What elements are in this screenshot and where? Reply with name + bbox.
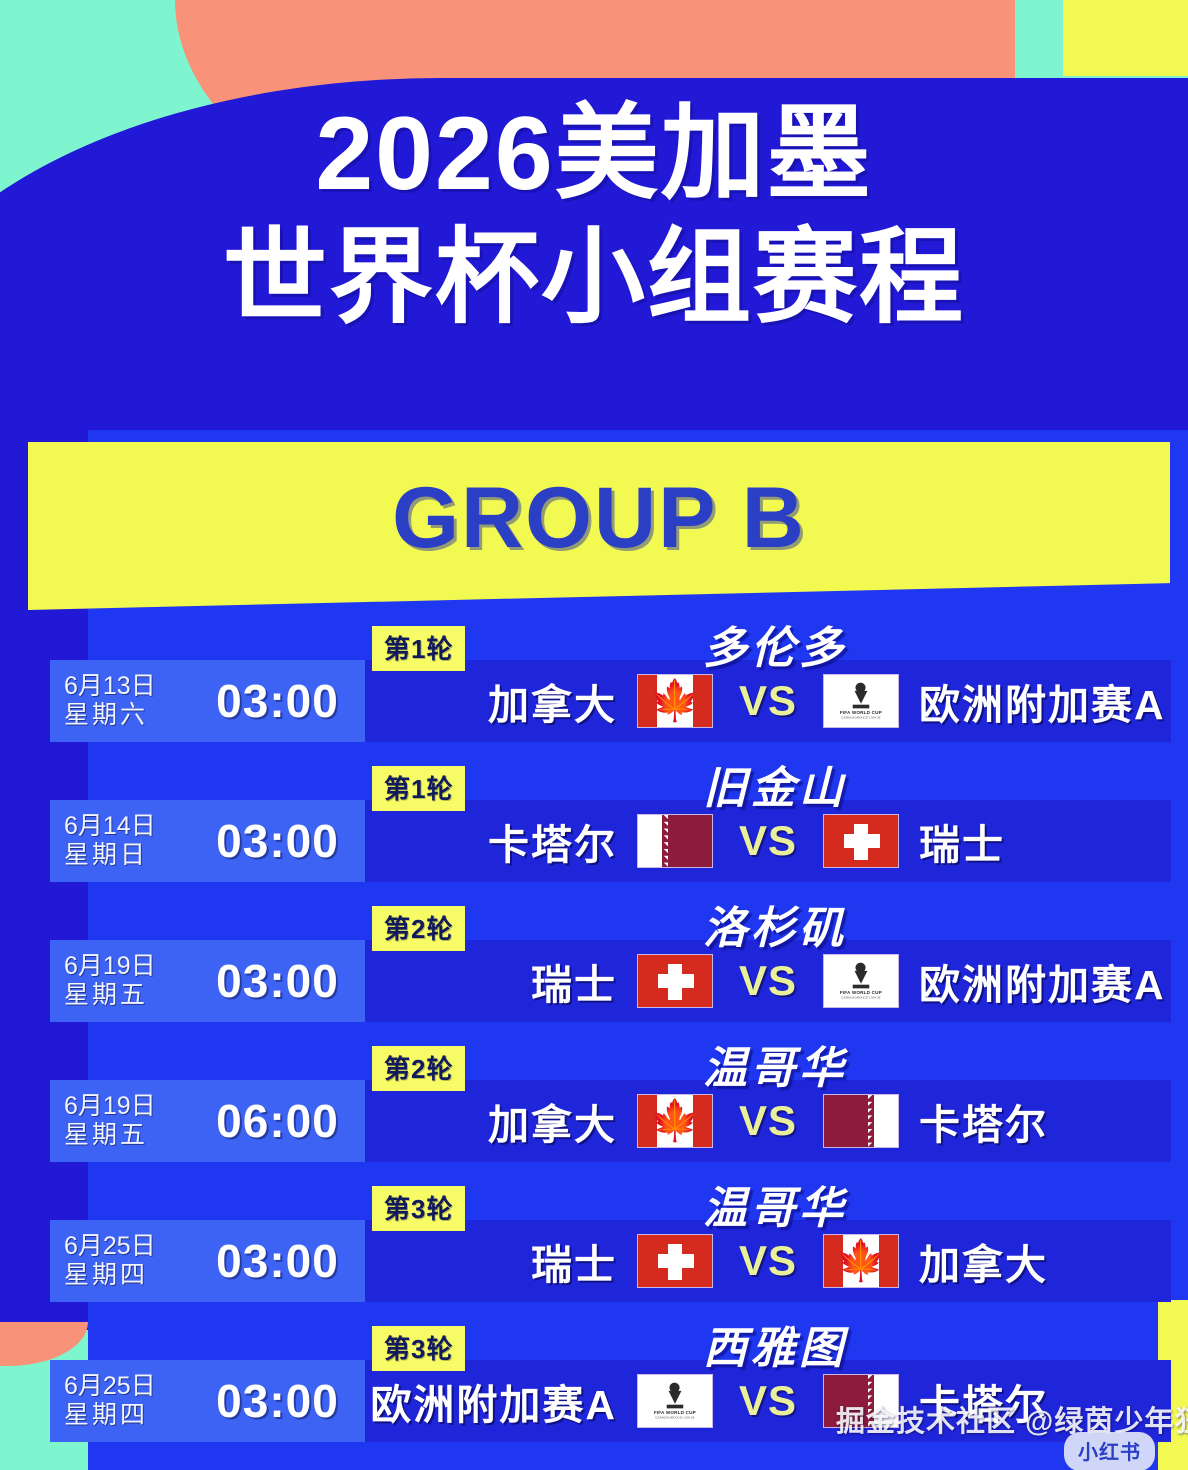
page-title: 2026美加墨 世界杯小组赛程 [0,96,1188,337]
switzerland-flag-icon [637,954,713,1008]
match-date: 6月13日 [64,672,190,702]
home-team-name: 加拿大 [367,671,617,731]
match-date-column: 6月19日星期五 [50,1092,190,1151]
match-datetime: 6月25日星期四03:00 [50,1360,365,1442]
vs-separator: VS [733,1237,803,1285]
canada-flag-icon: 🍁 [637,1094,713,1148]
vs-separator: VS [733,1377,803,1425]
match-date-column: 6月25日星期四 [50,1232,190,1291]
match-weekday: 星期六 [64,701,190,731]
xiaohongshu-badge: 小红书 [1064,1432,1155,1470]
match-time: 03:00 [190,954,365,1008]
switzerland-flag-icon [823,814,899,868]
match-date-column: 6月13日星期六 [50,672,190,731]
match-weekday: 星期五 [64,981,190,1011]
match-datetime: 6月13日星期六03:00 [50,660,365,742]
fifa-world-cup-badge-icon: FIFA WORLD CUPCANADA MEXICO USA 26 [637,1374,713,1428]
group-label: GROUP B [392,469,806,568]
match-datetime: 6月25日星期四03:00 [50,1220,365,1302]
match-weekday: 星期四 [64,1401,190,1431]
poster-root: 2026美加墨 世界杯小组赛程 GROUP B 多伦多6月13日星期六03:00… [0,0,1188,1470]
match-fixture: 瑞士VSFIFA WORLD CUPCANADA MEXICO USA 26欧洲… [365,940,1171,1022]
away-team-name: 欧洲附加赛A [919,671,1169,731]
match-time: 03:00 [190,814,365,868]
match-row[interactable]: 旧金山6月14日星期日03:00第1轮卡塔尔VS瑞士 [0,750,1188,890]
match-time: 03:00 [190,674,365,728]
home-team-name: 卡塔尔 [367,811,617,871]
match-fixture: 瑞士VS🍁加拿大 [365,1220,1171,1302]
fifa-world-cup-badge-icon: FIFA WORLD CUPCANADA MEXICO USA 26 [823,954,899,1008]
match-date: 6月25日 [64,1232,190,1262]
match-row[interactable]: 多伦多6月13日星期六03:00第1轮加拿大🍁VSFIFA WORLD CUPC… [0,610,1188,750]
match-datetime: 6月19日星期五06:00 [50,1080,365,1162]
away-team-name: 欧洲附加赛A [919,951,1169,1011]
vs-separator: VS [733,817,803,865]
away-team-name: 加拿大 [919,1231,1169,1291]
match-row[interactable]: 洛杉矶6月19日星期五03:00第2轮瑞士VSFIFA WORLD CUPCAN… [0,890,1188,1030]
match-round-badge: 第1轮 [372,766,465,811]
home-team-name: 瑞士 [367,951,617,1011]
vs-separator: VS [733,677,803,725]
match-list: 多伦多6月13日星期六03:00第1轮加拿大🍁VSFIFA WORLD CUPC… [0,610,1188,1450]
match-round-badge: 第2轮 [372,906,465,951]
match-date-column: 6月25日星期四 [50,1372,190,1431]
match-weekday: 星期日 [64,841,190,871]
home-team-name: 加拿大 [367,1091,617,1151]
match-time: 03:00 [190,1374,365,1428]
match-round-badge: 第2轮 [372,1046,465,1091]
match-row[interactable]: 温哥华6月25日星期四03:00第3轮瑞士VS🍁加拿大 [0,1170,1188,1310]
match-fixture: 卡塔尔VS瑞士 [365,800,1171,882]
vs-separator: VS [733,1097,803,1145]
title-line-2: 世界杯小组赛程 [0,220,1188,336]
match-date: 6月14日 [64,812,190,842]
fifa-world-cup-badge-icon: FIFA WORLD CUPCANADA MEXICO USA 26 [823,674,899,728]
match-time: 06:00 [190,1094,365,1148]
home-team-name: 欧洲附加赛A [367,1371,617,1431]
match-row[interactable]: 温哥华6月19日星期五06:00第2轮加拿大🍁VS卡塔尔 [0,1030,1188,1170]
switzerland-flag-icon [637,1234,713,1288]
away-team-name: 瑞士 [919,811,1169,871]
match-datetime: 6月14日星期日03:00 [50,800,365,882]
away-team-name: 卡塔尔 [919,1091,1169,1151]
home-team-name: 瑞士 [367,1231,617,1291]
match-date: 6月19日 [64,952,190,982]
group-banner: GROUP B [28,442,1170,610]
match-weekday: 星期五 [64,1121,190,1151]
match-date: 6月25日 [64,1372,190,1402]
qatar-flag-icon [823,1094,899,1148]
match-round-badge: 第1轮 [372,626,465,671]
canada-flag-icon: 🍁 [637,674,713,728]
match-date-column: 6月19日星期五 [50,952,190,1011]
match-date-column: 6月14日星期日 [50,812,190,871]
match-fixture: 加拿大🍁VSFIFA WORLD CUPCANADA MEXICO USA 26… [365,660,1171,742]
match-round-badge: 第3轮 [372,1186,465,1231]
canada-flag-icon: 🍁 [823,1234,899,1288]
match-round-badge: 第3轮 [372,1326,465,1371]
match-datetime: 6月19日星期五03:00 [50,940,365,1022]
qatar-flag-icon [637,814,713,868]
match-date: 6月19日 [64,1092,190,1122]
match-weekday: 星期四 [64,1261,190,1291]
match-time: 03:00 [190,1234,365,1288]
title-line-1: 2026美加墨 [0,96,1188,212]
decor-yellow-corner [1063,0,1188,76]
vs-separator: VS [733,957,803,1005]
match-fixture: 加拿大🍁VS卡塔尔 [365,1080,1171,1162]
